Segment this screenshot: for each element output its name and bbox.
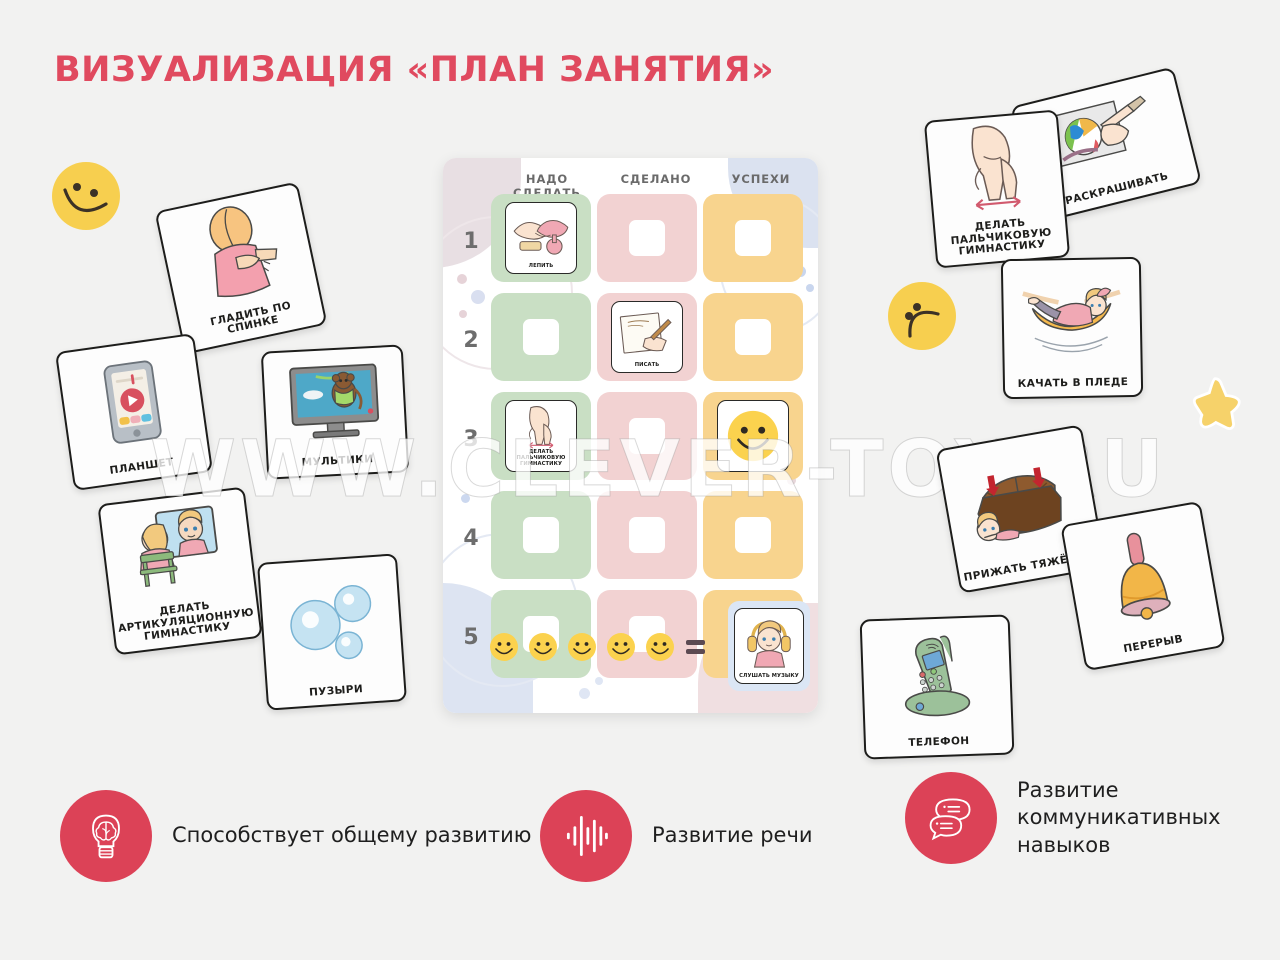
cell-todo-1[interactable]: ЛЕПИТЬ	[491, 194, 591, 282]
sound-wave-icon	[540, 790, 632, 882]
lightbulb-brain-icon	[60, 790, 152, 882]
feature-label: Развитие речи	[652, 822, 813, 849]
telephone-icon	[862, 616, 1012, 737]
tablet-icon	[57, 335, 208, 469]
empty-slot[interactable]	[735, 220, 771, 256]
cell-success-4[interactable]	[703, 491, 803, 579]
card-cartoons[interactable]: МУЛЬТИКИ	[261, 344, 410, 479]
minicard-modelling[interactable]: ЛЕПИТЬ	[505, 202, 577, 274]
feature-speech-development: Развитие речи	[540, 790, 813, 882]
cell-success-3[interactable]	[703, 392, 803, 480]
finger-gymnastics-icon	[926, 112, 1064, 224]
table-row: 2 ПИСАТЬ	[491, 293, 815, 388]
empty-slot[interactable]	[735, 517, 771, 553]
feature-general-development: Способствует общему развитию	[60, 790, 531, 882]
reward-smiley-icon[interactable]	[489, 632, 519, 662]
card-articulation-gymnastics[interactable]: ДЕЛАТЬ АРТИКУЛЯЦИОННУЮ ГИМНАСТИКУ	[97, 487, 262, 656]
minicard-label: ПИСАТЬ	[612, 363, 682, 372]
empty-slot[interactable]	[735, 319, 771, 355]
row-number: 3	[459, 392, 483, 487]
empty-slot[interactable]	[629, 418, 665, 454]
card-finger-gymnastics[interactable]: ДЕЛАТЬ ПАЛЬЧИКОВУЮ ГИМНАСТИКУ	[924, 109, 1070, 268]
cell-success-1[interactable]	[703, 194, 803, 282]
table-row: 4	[491, 491, 815, 586]
minicard-label: ДЕЛАТЬ ПАЛЬЧИКОВУЮ ГИМНАСТИКУ	[506, 450, 576, 471]
star-icon	[1186, 374, 1242, 430]
card-telephone[interactable]: ТЕЛЕФОН	[860, 614, 1015, 759]
feature-communication-skills: Развитие коммуникативных навыков	[905, 772, 1280, 864]
minicard-smiley-reward[interactable]	[717, 400, 789, 472]
feature-label: Развитие коммуникативных навыков	[1017, 777, 1280, 859]
finger-gymnastics-icon	[506, 401, 576, 450]
mirror-articulation-icon	[100, 489, 256, 611]
speech-bubbles-icon	[905, 772, 997, 864]
cell-done-2[interactable]: ПИСАТЬ	[597, 293, 697, 381]
row-number: 2	[459, 293, 483, 388]
empty-slot[interactable]	[523, 319, 559, 355]
board-column-headers: НАДО СДЕЛАТЬ СДЕЛАНО УСПЕХИ	[443, 172, 818, 192]
headphones-girl-icon	[735, 609, 803, 674]
cell-todo-4[interactable]	[491, 491, 591, 579]
cell-todo-2[interactable]	[491, 293, 591, 381]
card-tablet[interactable]: ПЛАНШЕТ	[55, 333, 213, 491]
decor-dot	[579, 688, 590, 699]
reward-prize-tile[interactable]: СЛУШАТЬ МУЗЫКУ	[728, 601, 810, 691]
blanket-swing-icon	[1003, 259, 1141, 378]
empty-slot[interactable]	[629, 517, 665, 553]
reward-smiley-icon[interactable]	[528, 632, 558, 662]
minicard-writing[interactable]: ПИСАТЬ	[611, 301, 683, 373]
empty-slot[interactable]	[523, 517, 559, 553]
card-break[interactable]: ПЕРЕРЫВ	[1060, 501, 1226, 671]
cell-todo-3[interactable]: ДЕЛАТЬ ПАЛЬЧИКОВУЮ ГИМНАСТИКУ	[491, 392, 591, 480]
smiley-happy-icon	[50, 160, 122, 232]
feature-label: Способствует общему развитию	[172, 822, 531, 849]
reward-smiley-icon[interactable]	[567, 632, 597, 662]
reward-smiley-icon[interactable]	[645, 632, 675, 662]
minicard-listen-music[interactable]: СЛУШАТЬ МУЗЫКУ	[734, 608, 804, 684]
poster-canvas: ВИЗУАЛИЗАЦИЯ «ПЛАН ЗАНЯТИЯ» ГЛАДИТЬ ПО С…	[0, 0, 1280, 960]
cell-done-4[interactable]	[597, 491, 697, 579]
bubbles-icon	[259, 555, 403, 688]
minicard-label: СЛУШАТЬ МУЗЫКУ	[735, 674, 803, 683]
smiley-icon	[718, 401, 788, 471]
smiley-sad-icon	[886, 280, 958, 352]
cell-done-3[interactable]	[597, 392, 697, 480]
row-number: 4	[459, 491, 483, 586]
row-number: 1	[459, 194, 483, 289]
feature-list: Способствует общему развитию Развитие	[0, 780, 1280, 920]
card-label: КАЧАТЬ В ПЛЕДЕ	[1005, 375, 1141, 397]
card-bubbles[interactable]: ПУЗЫРИ	[257, 553, 407, 710]
clay-hands-icon	[506, 203, 576, 264]
table-row: 3 ДЕЛАТЬ ПАЛЬЧИКОВУЮ ГИМНАС	[491, 392, 815, 487]
card-back-stroking[interactable]: ГЛАДИТЬ ПО СПИНКЕ	[154, 181, 327, 354]
column-header-done: СДЕЛАНО	[604, 172, 708, 186]
column-header-success: УСПЕХИ	[711, 172, 811, 186]
minicard-label: ЛЕПИТЬ	[506, 264, 576, 273]
visual-schedule-board: НАДО СДЕЛАТЬ СДЕЛАНО УСПЕХИ 1	[443, 158, 818, 713]
cell-success-2[interactable]	[703, 293, 803, 381]
cell-done-1[interactable]	[597, 194, 697, 282]
row-number: 5	[459, 590, 483, 685]
bell-icon	[1063, 503, 1220, 649]
card-blanket-swing[interactable]: КАЧАТЬ В ПЛЕДЕ	[1001, 257, 1143, 399]
writing-hand-icon	[612, 302, 682, 363]
equals-sign	[686, 640, 705, 654]
page-title: ВИЗУАЛИЗАЦИЯ «ПЛАН ЗАНЯТИЯ»	[54, 50, 774, 90]
tv-cartoon-icon	[263, 346, 406, 457]
table-row: 1 ЛЕПИТЬ	[491, 194, 815, 289]
minicard-finger-gymnastics[interactable]: ДЕЛАТЬ ПАЛЬЧИКОВУЮ ГИМНАСТИКУ	[505, 400, 577, 472]
empty-slot[interactable]	[629, 220, 665, 256]
reward-smiley-icon[interactable]	[606, 632, 636, 662]
